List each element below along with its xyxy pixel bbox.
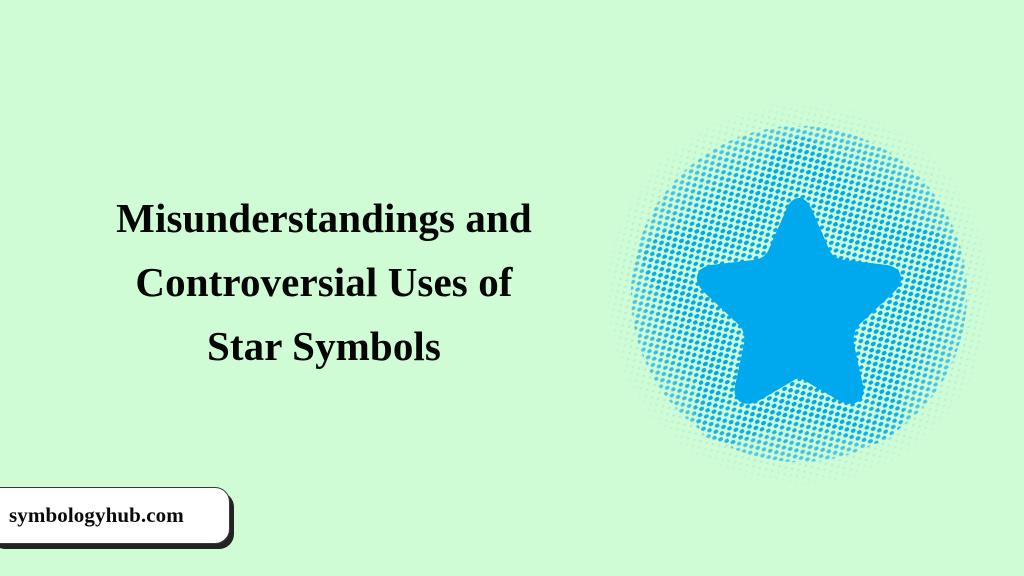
title-line-3: Star Symbols — [44, 314, 604, 378]
title-line-2: Controversial Uses of — [44, 250, 604, 314]
title-line-1: Misunderstandings and — [44, 186, 604, 250]
page-title: Misunderstandings and Controversial Uses… — [44, 186, 604, 378]
halftone-star-icon — [600, 98, 998, 490]
slide-canvas: Misunderstandings and Controversial Uses… — [0, 0, 1024, 576]
site-url-badge[interactable]: symbologyhub.com — [0, 487, 230, 544]
site-url-label: symbologyhub.com — [0, 503, 184, 528]
